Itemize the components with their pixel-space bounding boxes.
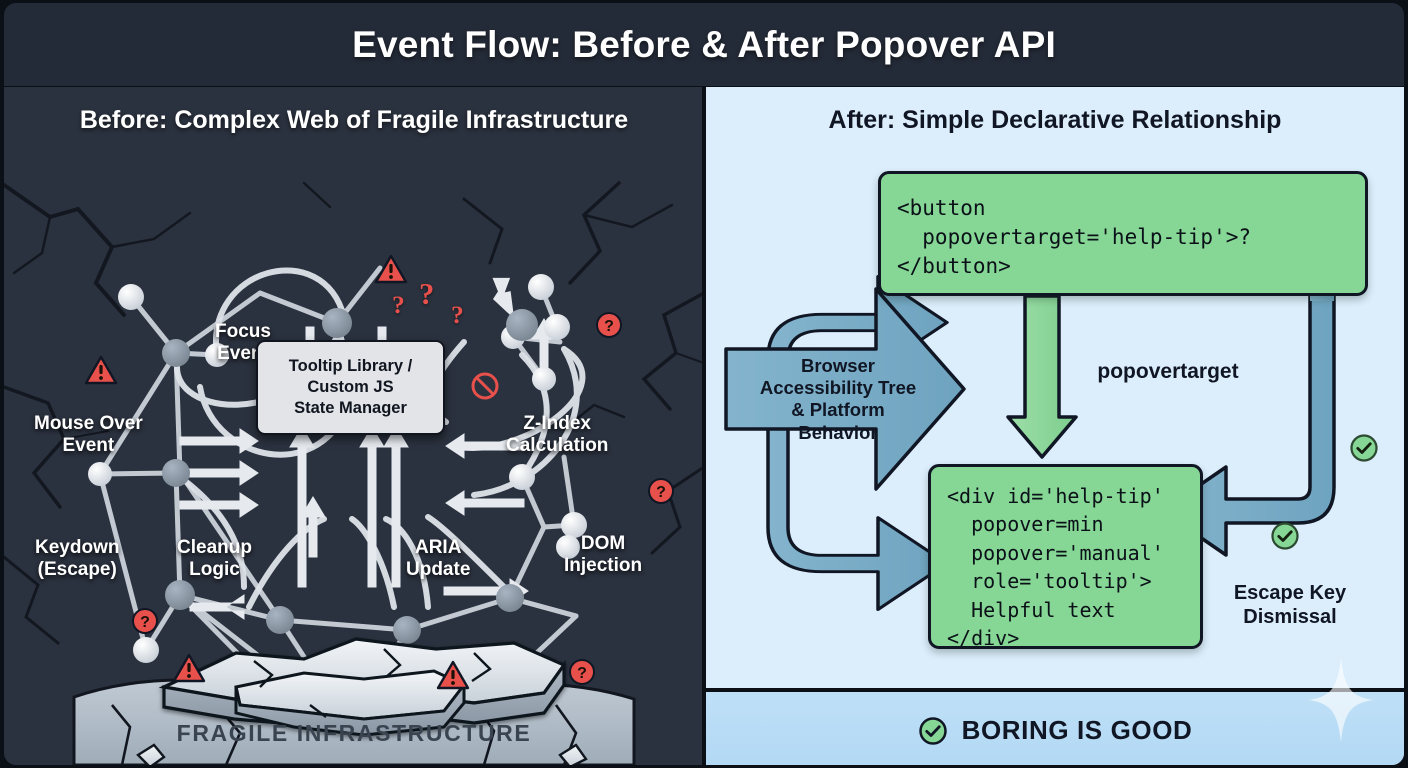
- popovertarget-edge-label: popovertarget: [1058, 359, 1278, 384]
- warning-triangle-icon: [436, 660, 470, 691]
- check-circle-icon: [1349, 433, 1379, 463]
- question-badge-icon: ?: [568, 658, 596, 686]
- diagram-root: Event Flow: Before & After Popover API: [0, 0, 1408, 768]
- boring-is-good-bar: BORING IS GOOD: [706, 688, 1404, 765]
- question-badge-icon: ?: [647, 477, 675, 505]
- warning-triangle-icon: [172, 653, 206, 684]
- warning-triangle-icon: [374, 254, 408, 285]
- question-badge-icon: ?: [595, 311, 623, 339]
- svg-text:?: ?: [604, 318, 614, 335]
- svg-text:?: ?: [577, 665, 587, 682]
- question-mark-glyph: ?: [419, 277, 434, 312]
- button-code-card: <button popovertarget='help-tip'>? </but…: [878, 171, 1368, 296]
- boring-is-good-label: BORING IS GOOD: [962, 715, 1193, 746]
- question-mark-glyph: ?: [451, 300, 464, 330]
- fragile-infrastructure-caption: FRAGILE INFRASTRUCTURE: [4, 720, 704, 747]
- check-circle-icon: [918, 716, 948, 746]
- sparkle-watermark-icon: [1308, 658, 1374, 742]
- escape-key-dismissal-label: Escape Key Dismissal: [1200, 581, 1380, 629]
- after-panel-heading: After: Simple Declarative Relationship: [706, 106, 1404, 135]
- warning-triangle-icon: [84, 355, 118, 386]
- svg-text:?: ?: [140, 614, 150, 631]
- tooltip-library-box: Tooltip Library / Custom JS State Manage…: [256, 340, 445, 435]
- tooltip-library-box-label: Tooltip Library / Custom JS State Manage…: [289, 356, 412, 419]
- question-badge-icon: ?: [131, 607, 159, 635]
- platform-arrow-label: Browser Accessibility Tree & Platform Be…: [750, 355, 926, 444]
- div-code-card: <div id='help-tip' popover=min popover='…: [928, 464, 1203, 649]
- blocked-circle-icon: [470, 371, 500, 401]
- before-panel-heading: Before: Complex Web of Fragile Infrastru…: [4, 106, 704, 135]
- question-mark-glyph: ?: [392, 290, 405, 320]
- check-circle-icon: [1270, 521, 1300, 551]
- after-panel: After: Simple Declarative Relationship B…: [706, 87, 1404, 765]
- diagram-title-bar: Event Flow: Before & After Popover API: [4, 3, 1404, 86]
- before-panel: Before: Complex Web of Fragile Infrastru…: [4, 87, 704, 765]
- page-title: Event Flow: Before & After Popover API: [352, 24, 1056, 66]
- svg-text:?: ?: [656, 484, 666, 501]
